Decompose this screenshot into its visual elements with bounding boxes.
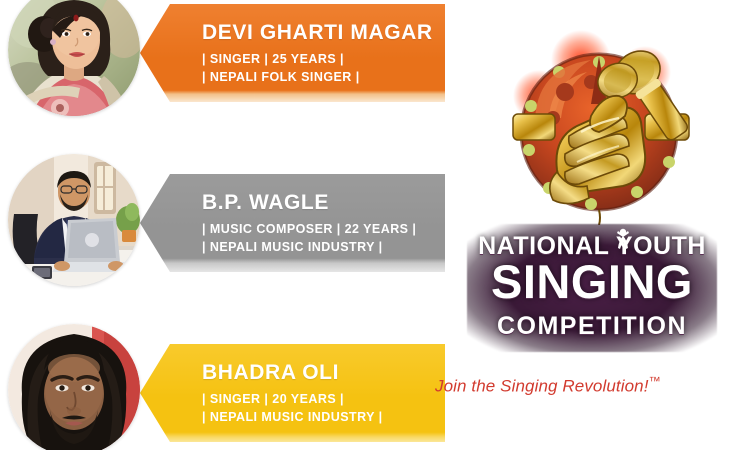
- judge-detail-line: | NEPALI MUSIC INDUSTRY |: [202, 238, 435, 256]
- judge-card-content: DEVI GHARTI MAGAR | SINGER | 25 YEARS | …: [140, 4, 445, 102]
- judge-name: B.P. WAGLE: [202, 191, 435, 215]
- logo-wordmark: NATIONAL YOUTH SINGING COMPETITION: [467, 224, 717, 352]
- judge-detail-line: | NEPALI MUSIC INDUSTRY |: [202, 408, 435, 426]
- tagline: Join the Singing Revolution!™: [435, 374, 735, 397]
- judge-role-line: | SINGER | 25 YEARS |: [202, 50, 435, 68]
- wordmark-line-bottom: COMPETITION: [467, 312, 717, 341]
- poster-canvas: DEVI GHARTI MAGAR | SINGER | 25 YEARS | …: [0, 0, 750, 450]
- judge-name: BHADRA OLI: [202, 361, 435, 385]
- judge-role-line: | MUSIC COMPOSER | 22 YEARS |: [202, 220, 435, 238]
- judge-role-line: | SINGER | 20 YEARS |: [202, 390, 435, 408]
- avatar-bp-wagle: [8, 154, 140, 286]
- avatar-bhadra-oli: [8, 324, 140, 450]
- fist-holding-microphone-emblem: [495, 20, 705, 225]
- judge-card-content: BHADRA OLI | SINGER | 20 YEARS | | NEPAL…: [140, 344, 445, 442]
- judge-detail-line: | NEPALI FOLK SINGER |: [202, 68, 435, 86]
- tagline-trademark: ™: [649, 374, 661, 388]
- judge-name: DEVI GHARTI MAGAR: [202, 21, 435, 45]
- judge-card-yellow[interactable]: BHADRA OLI | SINGER | 20 YEARS | | NEPAL…: [140, 344, 445, 442]
- youth-figure-icon: [615, 228, 631, 256]
- judge-card-content: B.P. WAGLE | MUSIC COMPOSER | 22 YEARS |…: [140, 174, 445, 272]
- tagline-text: Join the Singing Revolution!: [435, 377, 649, 396]
- wordmark-line-mid: SINGING: [467, 258, 717, 305]
- avatar-devi-gharti-magar: [8, 0, 140, 116]
- judge-card-orange[interactable]: DEVI GHARTI MAGAR | SINGER | 25 YEARS | …: [140, 4, 445, 102]
- judge-card-gray[interactable]: B.P. WAGLE | MUSIC COMPOSER | 22 YEARS |…: [140, 174, 445, 272]
- competition-logo: NATIONAL YOUTH SINGING COMPETITION Join …: [455, 6, 745, 406]
